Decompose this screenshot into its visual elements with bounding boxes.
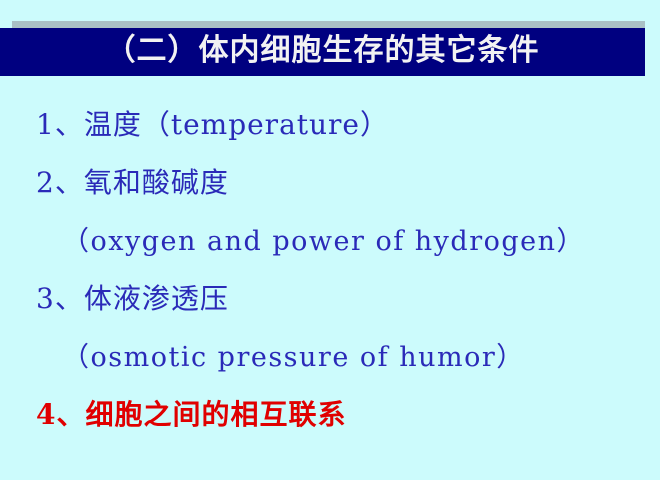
list-item-subtext: （oxygen and power of hydrogen） — [0, 212, 660, 270]
slide-canvas: （二）体内细胞生存的其它条件 1、温度（temperature） 2、氧和酸碱度… — [0, 0, 660, 480]
title-bar: （二）体内细胞生存的其它条件 — [0, 28, 645, 76]
slide-body-list: 1、温度（temperature） 2、氧和酸碱度 （oxygen and po… — [0, 96, 660, 444]
list-item-text: （oxygen and power of hydrogen） — [62, 228, 585, 255]
list-item-subtext: （osmotic pressure of humor） — [0, 328, 660, 386]
list-item-text: 4、细胞之间的相互联系 — [36, 401, 346, 429]
list-item-text: 3、体液渗透压 — [36, 285, 229, 313]
list-item: 2、氧和酸碱度 — [0, 154, 660, 212]
slide-title: （二）体内细胞生存的其它条件 — [106, 36, 540, 68]
list-item: 1、温度（temperature） — [0, 96, 660, 154]
list-item-text: （osmotic pressure of humor） — [62, 344, 525, 371]
list-item-highlighted: 4、细胞之间的相互联系 — [0, 386, 660, 444]
list-item-text: 2、氧和酸碱度 — [36, 169, 229, 197]
list-item: 3、体液渗透压 — [0, 270, 660, 328]
list-item-text: 1、温度（temperature） — [36, 111, 389, 139]
